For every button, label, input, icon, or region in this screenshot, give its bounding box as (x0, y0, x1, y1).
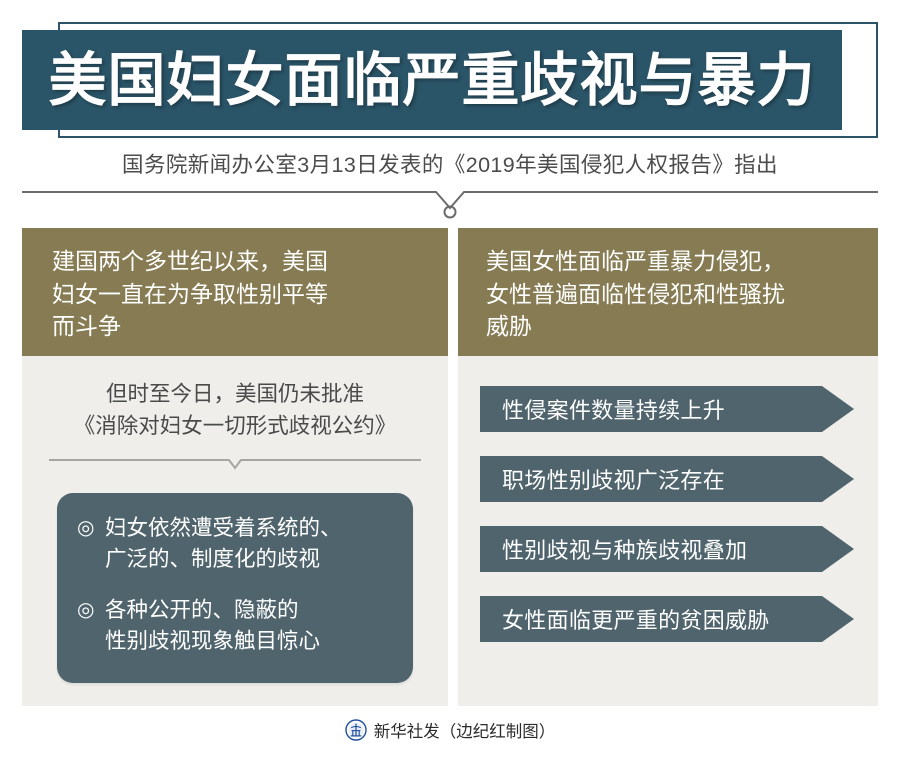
left-header-line-3: 而斗争 (52, 311, 424, 344)
chip-label-1: 性侵案件数量持续上升 (480, 393, 725, 425)
bullet-circle-icon: ◎ (77, 595, 105, 657)
bullet-2-line-2: 性别歧视现象触目惊心 (105, 626, 320, 657)
title-banner: 美国妇女面临严重歧视与暴力 (22, 22, 878, 138)
chip-label-2: 职场性别歧视广泛存在 (480, 463, 725, 495)
chip-label-4: 女性面临更严重的贫困威胁 (480, 603, 770, 635)
left-column-header: 建国两个多世纪以来，美国 妇女一直在为争取性别平等 而斗争 (22, 228, 448, 356)
right-column: 美国女性面临严重暴力侵犯， 女性普遍面临性侵犯和性骚扰 威胁 性侵案件数量持续上… (458, 228, 878, 706)
right-header-line-2: 女性普遍面临性侵犯和性骚扰 (486, 279, 854, 312)
bullet-item-text: 各种公开的、隐蔽的 性别歧视现象触目惊心 (105, 595, 320, 657)
right-column-chip-list: 性侵案件数量持续上升 职场性别歧视广泛存在 性别歧视与种族歧视叠加 女性面临更严… (458, 356, 878, 642)
list-item: 性侵案件数量持续上升 (480, 386, 878, 432)
title-banner-fill: 美国妇女面临严重歧视与暴力 (22, 30, 842, 130)
list-item: 性别歧视与种族歧视叠加 (480, 526, 878, 572)
left-column-bullet-panel: ◎ 妇女依然遭受着系统的、 广泛的、制度化的歧视 ◎ 各种公开的、隐蔽的 性别歧… (57, 493, 413, 683)
left-column-statement: 但时至今日，美国仍未批准 《消除对妇女一切形式歧视公约》 (22, 378, 448, 443)
footer: 新华社发（边纪红制图） (0, 718, 900, 742)
right-header-line-3: 威胁 (486, 311, 854, 344)
page-title: 美国妇女面临严重歧视与暴力 (48, 51, 815, 109)
infographic-page: 美国妇女面临严重歧视与暴力 国务院新闻办公室3月13日发表的《2019年美国侵犯… (0, 0, 900, 758)
right-column-header: 美国女性面临严重暴力侵犯， 女性普遍面临性侵犯和性骚扰 威胁 (458, 228, 878, 356)
list-item: 女性面临更严重的贫困威胁 (480, 596, 878, 642)
right-header-line-1: 美国女性面临严重暴力侵犯， (486, 246, 854, 279)
footer-credit: 新华社发（边纪红制图） (374, 718, 556, 742)
connector-divider (22, 186, 878, 220)
bullet-2-line-1: 各种公开的、隐蔽的 (105, 595, 320, 626)
bullet-circle-icon: ◎ (77, 513, 105, 575)
section-divider-notch-icon (49, 457, 421, 471)
left-column: 建国两个多世纪以来，美国 妇女一直在为争取性别平等 而斗争 但时至今日，美国仍未… (22, 228, 448, 706)
bullet-item-text: 妇女依然遭受着系统的、 广泛的、制度化的歧视 (105, 513, 342, 575)
bullet-1-line-1: 妇女依然遭受着系统的、 (105, 513, 342, 544)
left-statement-line-1: 但时至今日，美国仍未批准 (22, 378, 448, 410)
bullet-item: ◎ 各种公开的、隐蔽的 性别歧视现象触目惊心 (77, 595, 395, 657)
left-header-line-2: 妇女一直在为争取性别平等 (52, 279, 424, 312)
connector-notch-icon (22, 186, 878, 220)
bullet-1-line-2: 广泛的、制度化的歧视 (105, 544, 342, 575)
subtitle: 国务院新闻办公室3月13日发表的《2019年美国侵犯人权报告》指出 (0, 148, 900, 179)
left-header-line-1: 建国两个多世纪以来，美国 (52, 246, 424, 279)
left-statement-line-2: 《消除对妇女一切形式歧视公约》 (22, 410, 448, 442)
bullet-item: ◎ 妇女依然遭受着系统的、 广泛的、制度化的歧视 (77, 513, 395, 575)
chip-label-3: 性别歧视与种族歧视叠加 (480, 533, 747, 565)
list-item: 职场性别歧视广泛存在 (480, 456, 878, 502)
xinhua-logo-icon (345, 719, 367, 741)
